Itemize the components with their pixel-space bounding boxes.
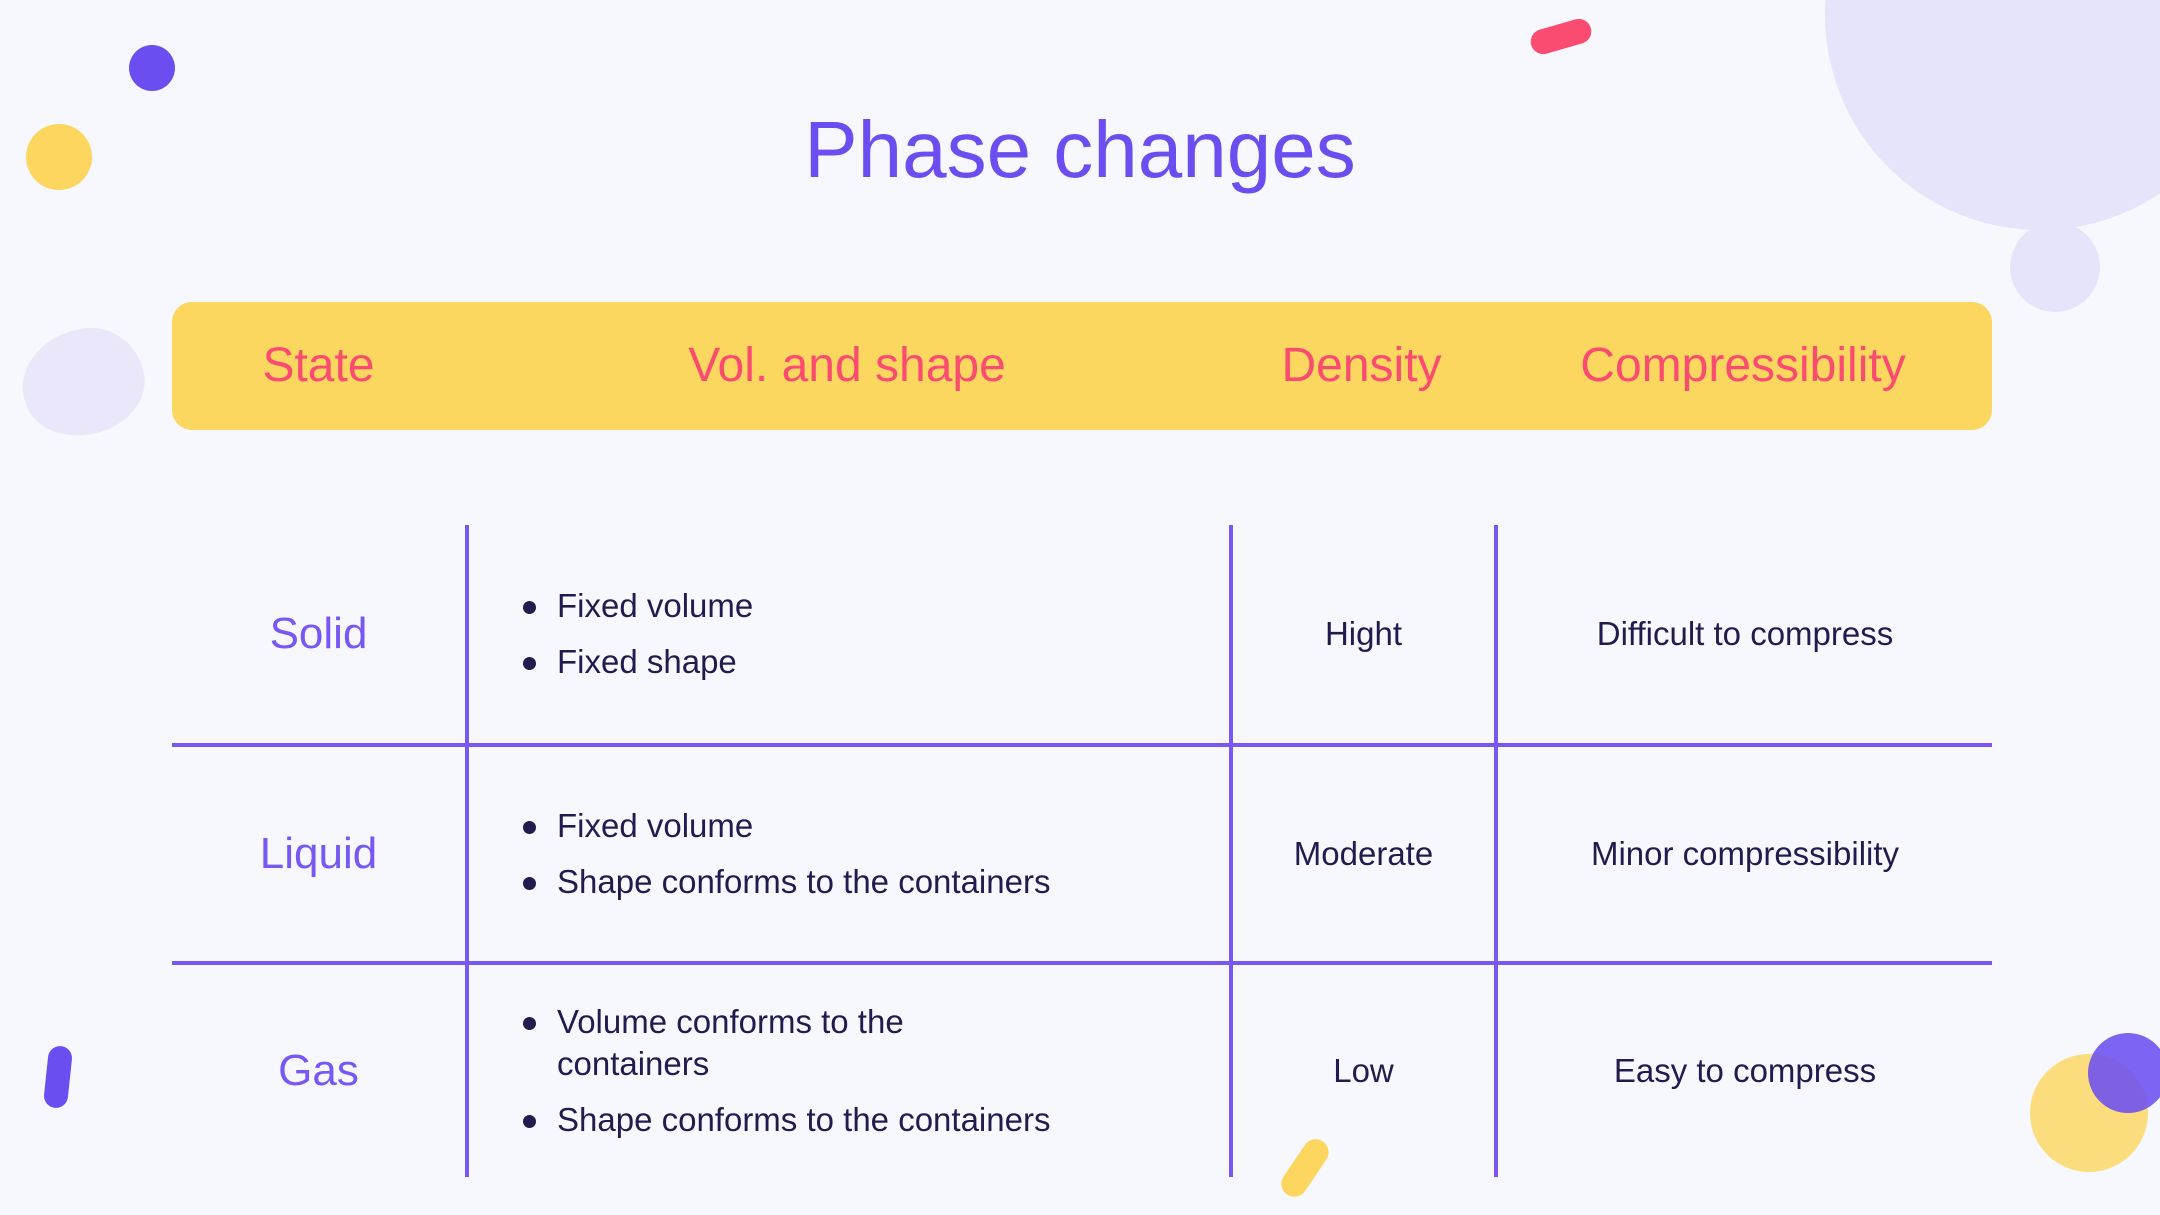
column-header-density: Density <box>1229 302 1494 430</box>
table-spacer-cell <box>1494 430 1992 525</box>
overlap-circle-yellow-icon <box>2030 1054 2148 1172</box>
table-spacer-cell <box>172 430 465 525</box>
column-header-compressibility: Compressibility <box>1494 302 1992 430</box>
cell-state: Gas <box>278 1043 359 1099</box>
vol-and-shape-list: Volume conforms to the containers Shape … <box>513 1001 1050 1142</box>
column-header-compressibility-label: Compressibility <box>1580 340 1905 393</box>
blob-left-icon <box>9 314 157 452</box>
column-header-vol-and-shape: Vol. and shape <box>465 302 1229 430</box>
vol-and-shape-list: Fixed volume Shape conforms to the conta… <box>513 805 1050 903</box>
list-item: Fixed shape <box>557 641 753 683</box>
cell-density: Low <box>1333 1050 1394 1092</box>
table-row: Liquid <box>172 743 465 961</box>
cell-compressibility: Difficult to compress <box>1597 613 1893 655</box>
table-row: Volume conforms to the containers Shape … <box>465 961 1229 1177</box>
table-spacer-cell <box>1229 430 1494 525</box>
phase-changes-table: State Vol. and shape Density Compressibi… <box>172 302 1992 1177</box>
cell-compressibility: Easy to compress <box>1614 1050 1876 1092</box>
list-item: Shape conforms to the containers <box>557 1099 1050 1141</box>
cell-state: Solid <box>270 606 368 662</box>
column-header-density-label: Density <box>1281 340 1441 393</box>
list-item: Shape conforms to the containers <box>557 861 1050 903</box>
dash-purple-icon <box>43 1045 73 1109</box>
column-header-state-label: State <box>262 340 374 393</box>
table-row: Solid <box>172 525 465 743</box>
slide-canvas: { "slide": { "title": "Phase changes", "… <box>0 0 2160 1215</box>
cell-compressibility: Minor compressibility <box>1591 833 1899 875</box>
dot-purple-icon <box>129 45 175 91</box>
column-header-vol-and-shape-label: Vol. and shape <box>688 340 1006 393</box>
list-item: Volume conforms to the containers <box>557 1001 997 1085</box>
cell-density: Hight <box>1325 613 1402 655</box>
table-grid: State Vol. and shape Density Compressibi… <box>172 302 1992 1177</box>
table-row: Hight <box>1229 525 1494 743</box>
table-row: Easy to compress <box>1494 961 1992 1177</box>
table-row: Difficult to compress <box>1494 525 1992 743</box>
circle-right-small-icon <box>2010 222 2100 312</box>
overlap-circle-purple-icon <box>2088 1033 2160 1113</box>
table-row: Minor compressibility <box>1494 743 1992 961</box>
table-row: Fixed volume Shape conforms to the conta… <box>465 743 1229 961</box>
table-row: Moderate <box>1229 743 1494 961</box>
list-item: Fixed volume <box>557 805 1050 847</box>
table-row: Gas <box>172 961 465 1177</box>
column-header-state: State <box>172 302 465 430</box>
cell-state: Liquid <box>260 826 377 882</box>
page-title: Phase changes <box>0 110 2160 190</box>
table-row: Low <box>1229 961 1494 1177</box>
table-row: Fixed volume Fixed shape <box>465 525 1229 743</box>
cell-density: Moderate <box>1294 833 1433 875</box>
dash-pink-icon <box>1528 16 1594 57</box>
table-spacer-cell <box>465 430 1229 525</box>
vol-and-shape-list: Fixed volume Fixed shape <box>513 585 753 683</box>
list-item: Fixed volume <box>557 585 753 627</box>
